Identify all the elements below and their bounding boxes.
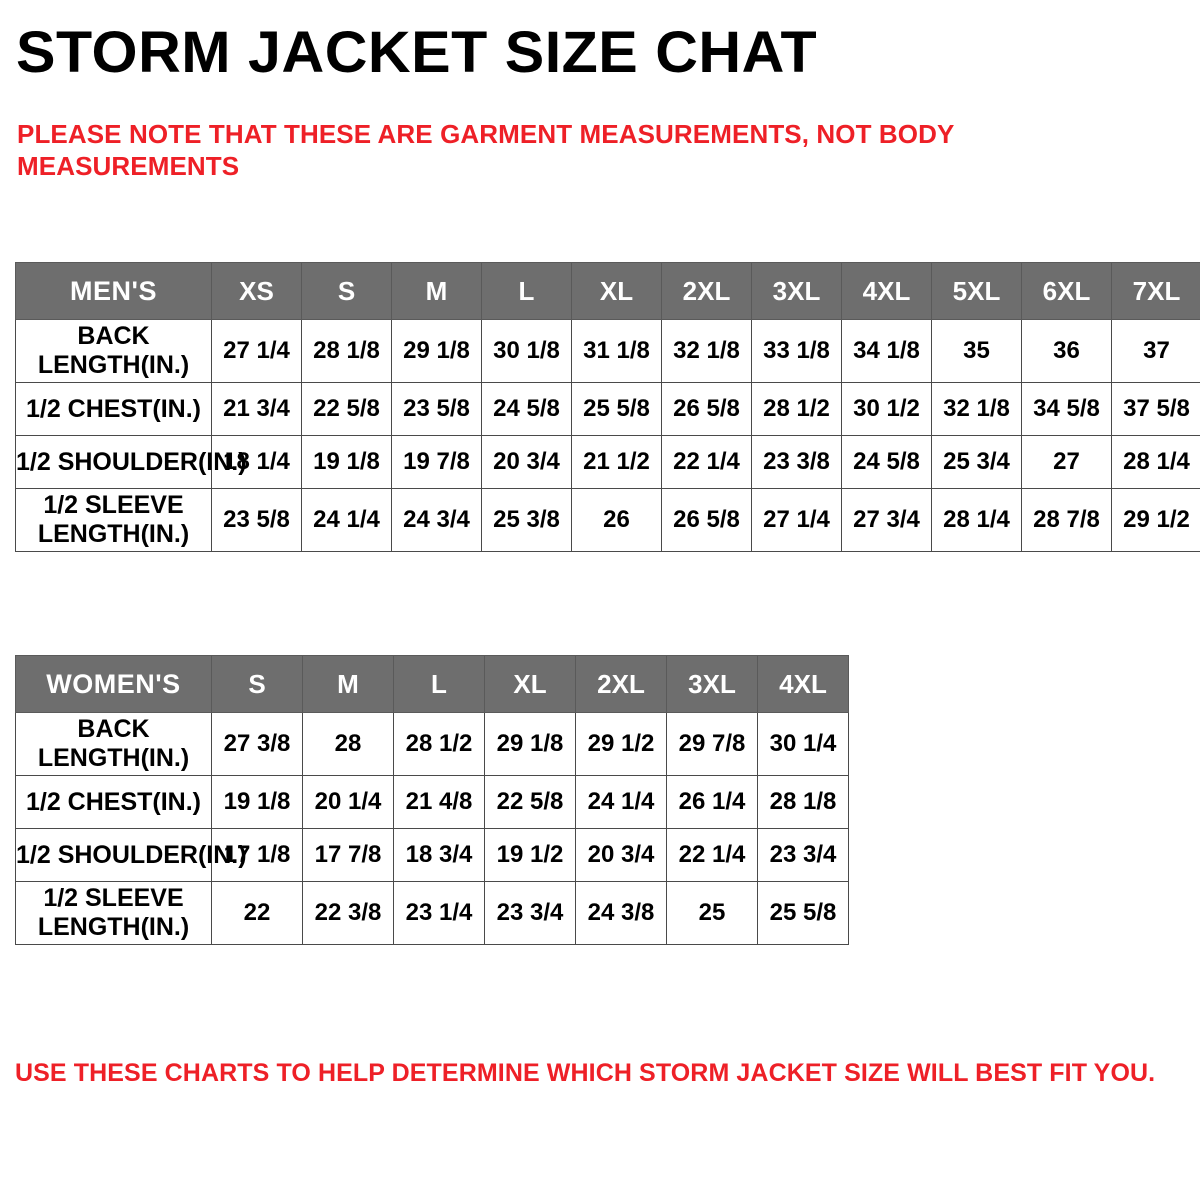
mens-row-label: 1/2 SHOULDER(IN.) xyxy=(16,436,212,489)
measurement-cell: 20 3/4 xyxy=(576,829,667,882)
measurement-cell: 27 1/4 xyxy=(752,489,842,552)
womens-table-body: BACKLENGTH(IN.)27 3/82828 1/229 1/829 1/… xyxy=(16,713,849,945)
measurement-cell: 28 1/8 xyxy=(758,776,849,829)
measurement-cell: 25 5/8 xyxy=(758,882,849,945)
measurement-cell: 27 3/4 xyxy=(842,489,932,552)
measurement-cell: 17 1/8 xyxy=(212,829,303,882)
womens-size-header-4xl: 4XL xyxy=(758,656,849,713)
measurement-cell: 26 5/8 xyxy=(662,489,752,552)
mens-size-header-s: S xyxy=(302,263,392,320)
measurement-cell: 22 5/8 xyxy=(485,776,576,829)
measurement-cell: 19 1/8 xyxy=(212,776,303,829)
measurement-cell: 29 1/8 xyxy=(485,713,576,776)
mens-size-header-4xl: 4XL xyxy=(842,263,932,320)
garment-measurement-note: PLEASE NOTE THAT THESE ARE GARMENT MEASU… xyxy=(17,118,977,182)
womens-size-header-l: L xyxy=(394,656,485,713)
measurement-cell: 23 5/8 xyxy=(212,489,302,552)
measurement-cell: 21 3/4 xyxy=(212,383,302,436)
measurement-cell: 32 1/8 xyxy=(932,383,1022,436)
womens-size-header-3xl: 3XL xyxy=(667,656,758,713)
mens-row-label: 1/2 SLEEVELENGTH(IN.) xyxy=(16,489,212,552)
mens-header-row: MEN'SXSSMLXL2XL3XL4XL5XL6XL7XL xyxy=(16,263,1200,320)
table-row: 1/2 SLEEVELENGTH(IN.)2222 3/823 1/423 3/… xyxy=(16,882,849,945)
measurement-cell: 33 1/8 xyxy=(752,320,842,383)
womens-row-label: BACKLENGTH(IN.) xyxy=(16,713,212,776)
size-chart-page: STORM JACKET SIZE CHAT PLEASE NOTE THAT … xyxy=(0,0,1200,1200)
measurement-cell: 26 1/4 xyxy=(667,776,758,829)
womens-size-table: WOMEN'SSMLXL2XL3XL4XL BACKLENGTH(IN.)27 … xyxy=(15,655,849,945)
table-row: 1/2 SHOULDER(IN.)17 1/817 7/818 3/419 1/… xyxy=(16,829,849,882)
measurement-cell: 22 xyxy=(212,882,303,945)
mens-size-header-xl: XL xyxy=(572,263,662,320)
measurement-cell: 27 xyxy=(1022,436,1112,489)
womens-size-header-s: S xyxy=(212,656,303,713)
measurement-cell: 29 1/2 xyxy=(576,713,667,776)
womens-table-header: WOMEN'SSMLXL2XL3XL4XL xyxy=(16,656,849,713)
row-label-line-1: 1/2 SLEEVE xyxy=(43,884,183,912)
table-row: 1/2 SHOULDER(IN.)18 1/419 1/819 7/820 3/… xyxy=(16,436,1200,489)
womens-size-header-m: M xyxy=(303,656,394,713)
measurement-cell: 19 7/8 xyxy=(392,436,482,489)
measurement-cell: 17 7/8 xyxy=(303,829,394,882)
womens-size-header-2xl: 2XL xyxy=(576,656,667,713)
mens-size-header-5xl: 5XL xyxy=(932,263,1022,320)
measurement-cell: 22 5/8 xyxy=(302,383,392,436)
measurement-cell: 25 5/8 xyxy=(572,383,662,436)
mens-corner-header: MEN'S xyxy=(16,263,212,320)
measurement-cell: 22 1/4 xyxy=(662,436,752,489)
row-label-line-2: LENGTH(IN.) xyxy=(38,520,189,548)
mens-size-header-2xl: 2XL xyxy=(662,263,752,320)
measurement-cell: 24 5/8 xyxy=(482,383,572,436)
measurement-cell: 30 1/4 xyxy=(758,713,849,776)
measurement-cell: 19 1/8 xyxy=(302,436,392,489)
measurement-cell: 28 xyxy=(303,713,394,776)
womens-size-header-xl: XL xyxy=(485,656,576,713)
table-row: BACKLENGTH(IN.)27 1/428 1/829 1/830 1/83… xyxy=(16,320,1200,383)
measurement-cell: 24 1/4 xyxy=(302,489,392,552)
measurement-cell: 28 1/8 xyxy=(302,320,392,383)
measurement-cell: 27 1/4 xyxy=(212,320,302,383)
measurement-cell: 23 3/4 xyxy=(485,882,576,945)
mens-row-label: BACKLENGTH(IN.) xyxy=(16,320,212,383)
measurement-cell: 28 7/8 xyxy=(1022,489,1112,552)
measurement-cell: 34 1/8 xyxy=(842,320,932,383)
measurement-cell: 24 3/8 xyxy=(576,882,667,945)
row-label-line-1: BACK xyxy=(77,322,149,350)
measurement-cell: 23 3/8 xyxy=(752,436,842,489)
measurement-cell: 20 1/4 xyxy=(303,776,394,829)
measurement-cell: 26 xyxy=(572,489,662,552)
mens-size-header-xs: XS xyxy=(212,263,302,320)
measurement-cell: 25 xyxy=(667,882,758,945)
mens-size-header-7xl: 7XL xyxy=(1112,263,1200,320)
measurement-cell: 23 1/4 xyxy=(394,882,485,945)
measurement-cell: 28 1/4 xyxy=(1112,436,1200,489)
table-row: 1/2 CHEST(IN.)21 3/422 5/823 5/824 5/825… xyxy=(16,383,1200,436)
measurement-cell: 27 3/8 xyxy=(212,713,303,776)
measurement-cell: 19 1/2 xyxy=(485,829,576,882)
womens-row-label: 1/2 CHEST(IN.) xyxy=(16,776,212,829)
mens-size-table: MEN'SXSSMLXL2XL3XL4XL5XL6XL7XL BACKLENGT… xyxy=(15,262,1200,552)
womens-corner-header: WOMEN'S xyxy=(16,656,212,713)
measurement-cell: 30 1/2 xyxy=(842,383,932,436)
mens-size-header-6xl: 6XL xyxy=(1022,263,1112,320)
measurement-cell: 22 3/8 xyxy=(303,882,394,945)
measurement-cell: 23 5/8 xyxy=(392,383,482,436)
measurement-cell: 23 3/4 xyxy=(758,829,849,882)
row-label-line-1: 1/2 SLEEVE xyxy=(43,491,183,519)
womens-row-label: 1/2 SHOULDER(IN.) xyxy=(16,829,212,882)
measurement-cell: 32 1/8 xyxy=(662,320,752,383)
measurement-cell: 29 1/8 xyxy=(392,320,482,383)
measurement-cell: 37 5/8 xyxy=(1112,383,1200,436)
measurement-cell: 25 3/4 xyxy=(932,436,1022,489)
womens-row-label: 1/2 SLEEVELENGTH(IN.) xyxy=(16,882,212,945)
measurement-cell: 24 3/4 xyxy=(392,489,482,552)
measurement-cell: 31 1/8 xyxy=(572,320,662,383)
mens-table-body: BACKLENGTH(IN.)27 1/428 1/829 1/830 1/83… xyxy=(16,320,1200,552)
row-label-line-2: LENGTH(IN.) xyxy=(38,913,189,941)
measurement-cell: 22 1/4 xyxy=(667,829,758,882)
measurement-cell: 29 7/8 xyxy=(667,713,758,776)
measurement-cell: 18 3/4 xyxy=(394,829,485,882)
measurement-cell: 25 3/8 xyxy=(482,489,572,552)
mens-size-header-m: M xyxy=(392,263,482,320)
measurement-cell: 37 xyxy=(1112,320,1200,383)
row-label-line-2: LENGTH(IN.) xyxy=(38,744,189,772)
mens-table-header: MEN'SXSSMLXL2XL3XL4XL5XL6XL7XL xyxy=(16,263,1200,320)
measurement-cell: 34 5/8 xyxy=(1022,383,1112,436)
use-charts-note: USE THESE CHARTS TO HELP DETERMINE WHICH… xyxy=(15,1058,1175,1088)
measurement-cell: 35 xyxy=(932,320,1022,383)
mens-size-header-l: L xyxy=(482,263,572,320)
measurement-cell: 28 1/2 xyxy=(394,713,485,776)
measurement-cell: 21 1/2 xyxy=(572,436,662,489)
measurement-cell: 28 1/4 xyxy=(932,489,1022,552)
measurement-cell: 26 5/8 xyxy=(662,383,752,436)
mens-row-label: 1/2 CHEST(IN.) xyxy=(16,383,212,436)
womens-header-row: WOMEN'SSMLXL2XL3XL4XL xyxy=(16,656,849,713)
table-row: 1/2 SLEEVELENGTH(IN.)23 5/824 1/424 3/42… xyxy=(16,489,1200,552)
measurement-cell: 18 1/4 xyxy=(212,436,302,489)
table-row: BACKLENGTH(IN.)27 3/82828 1/229 1/829 1/… xyxy=(16,713,849,776)
measurement-cell: 24 1/4 xyxy=(576,776,667,829)
measurement-cell: 28 1/2 xyxy=(752,383,842,436)
measurement-cell: 24 5/8 xyxy=(842,436,932,489)
row-label-line-2: LENGTH(IN.) xyxy=(38,351,189,379)
mens-size-header-3xl: 3XL xyxy=(752,263,842,320)
row-label-line-1: BACK xyxy=(77,715,149,743)
measurement-cell: 29 1/2 xyxy=(1112,489,1200,552)
table-row: 1/2 CHEST(IN.)19 1/820 1/421 4/822 5/824… xyxy=(16,776,849,829)
measurement-cell: 36 xyxy=(1022,320,1112,383)
measurement-cell: 30 1/8 xyxy=(482,320,572,383)
page-title: STORM JACKET SIZE CHAT xyxy=(16,22,817,84)
measurement-cell: 21 4/8 xyxy=(394,776,485,829)
measurement-cell: 20 3/4 xyxy=(482,436,572,489)
